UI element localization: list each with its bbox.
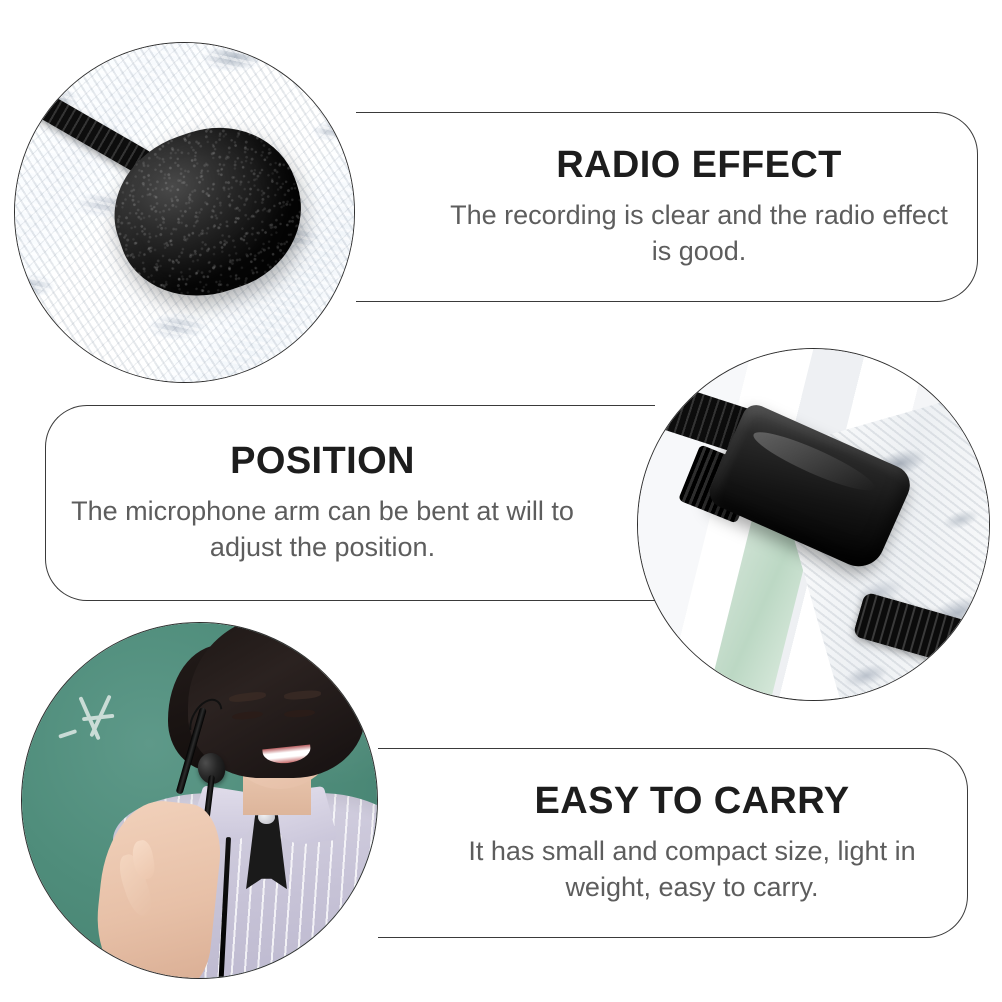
person-wearing-headset-photo bbox=[21, 622, 378, 979]
feature-title-easy-to-carry: EASY TO CARRY bbox=[535, 781, 850, 821]
feature-title-radio-effect: RADIO EFFECT bbox=[556, 145, 842, 185]
feature-title-position: POSITION bbox=[230, 441, 415, 481]
infographic-canvas: RADIO EFFECT The recording is clear and … bbox=[0, 0, 1002, 1002]
connector-scene bbox=[638, 349, 989, 700]
feature-description-easy-to-carry: It has small and compact size, light in … bbox=[440, 833, 944, 905]
feature-card-radio-effect: RADIO EFFECT The recording is clear and … bbox=[300, 112, 978, 302]
feature-card-easy-to-carry: EASY TO CARRY It has small and compact s… bbox=[330, 748, 968, 938]
raised-arm bbox=[90, 795, 225, 979]
card-text-group: RADIO EFFECT The recording is clear and … bbox=[450, 112, 948, 302]
feature-card-position: POSITION The microphone arm can be bent … bbox=[45, 405, 700, 601]
card-text-group: POSITION The microphone arm can be bent … bbox=[65, 405, 580, 601]
feature-description-position: The microphone arm can be bent at will t… bbox=[65, 493, 580, 565]
card-text-group: EASY TO CARRY It has small and compact s… bbox=[440, 748, 944, 938]
cable-connector-photo bbox=[637, 348, 990, 701]
feature-description-radio-effect: The recording is clear and the radio eff… bbox=[450, 197, 948, 269]
person-scene bbox=[22, 623, 377, 978]
